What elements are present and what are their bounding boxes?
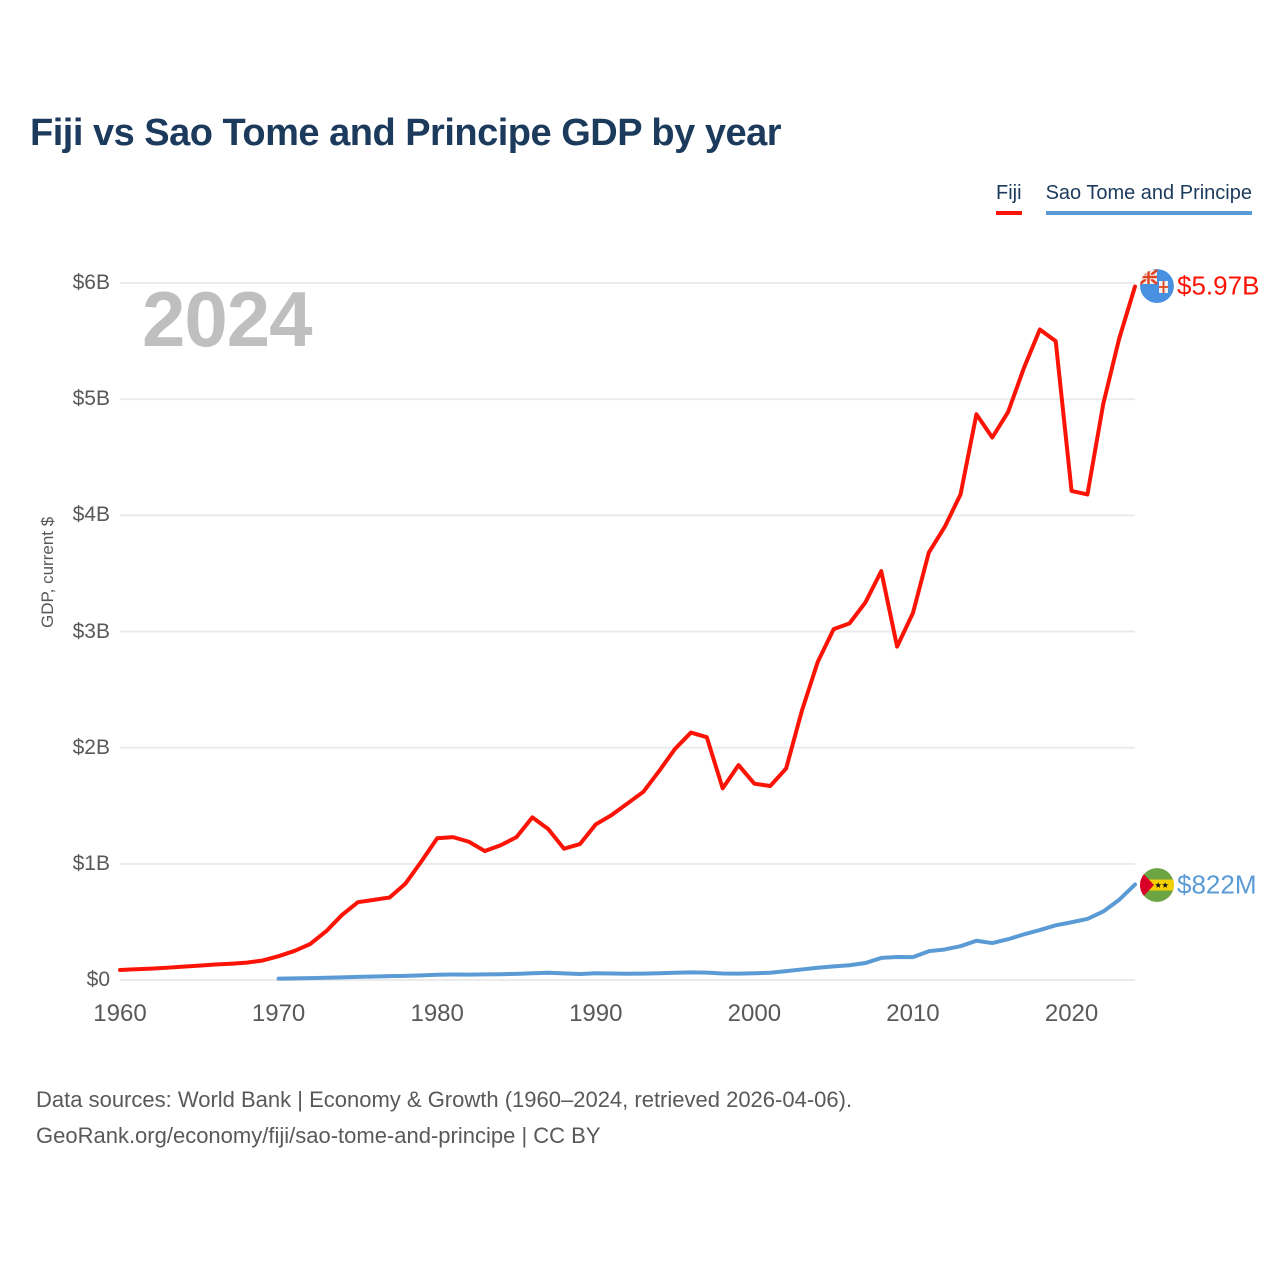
y-axis-tick-label: $2B <box>30 736 110 760</box>
fiji-flag-icon <box>1140 269 1174 303</box>
series-lines <box>120 286 1135 978</box>
x-axis-tick-label: 2020 <box>1017 1000 1127 1028</box>
y-axis-tick-label: $5B <box>30 387 110 411</box>
x-axis-tick-label: 1980 <box>382 1000 492 1028</box>
sao-tome-and-principe-end-value-label: $822M <box>1177 869 1257 900</box>
x-axis-tick-label: 1970 <box>224 1000 334 1028</box>
y-axis-tick-label: $4B <box>30 503 110 527</box>
sao-tome-and-principe-flag-icon <box>1140 868 1174 902</box>
x-axis-tick-label: 1990 <box>541 1000 651 1028</box>
y-axis-tick-label: $1B <box>30 852 110 876</box>
footer-line-url[interactable]: GeoRank.org/economy/fiji/sao-tome-and-pr… <box>36 1118 852 1154</box>
fiji-end-value-label: $5.97B <box>1177 271 1259 302</box>
gridlines <box>120 283 1135 980</box>
footer-attribution: Data sources: World Bank | Economy & Gro… <box>36 1082 852 1153</box>
chart-page: Fiji vs Sao Tome and Principe GDP by yea… <box>0 0 1280 1280</box>
x-axis-tick-label: 2000 <box>699 1000 809 1028</box>
y-axis-tick-label: $0 <box>30 968 110 992</box>
x-axis-tick-label: 1960 <box>65 1000 175 1028</box>
x-axis-tick-label: 2010 <box>858 1000 968 1028</box>
footer-line-data-sources: Data sources: World Bank | Economy & Gro… <box>36 1082 852 1118</box>
y-axis-tick-label: $3B <box>30 620 110 644</box>
y-axis-tick-label: $6B <box>30 271 110 295</box>
